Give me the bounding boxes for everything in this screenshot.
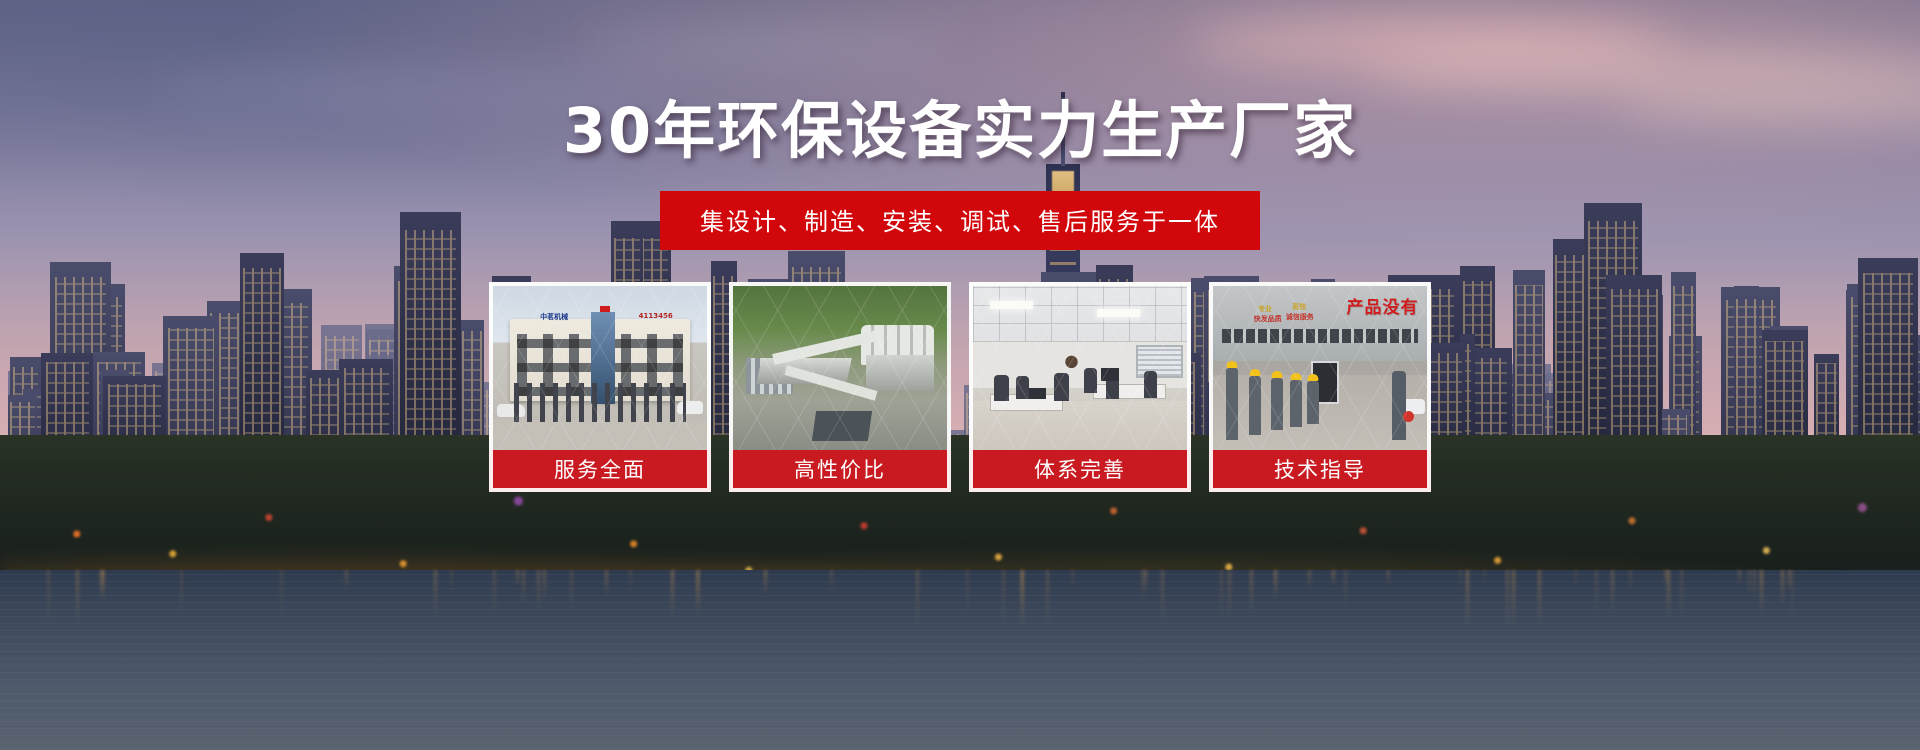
card-photo-industrial-plant xyxy=(729,282,951,450)
feature-card-label: 高性价比 xyxy=(729,450,951,492)
card-photo-office-interior xyxy=(969,282,1191,450)
feature-card[interactable]: 体系完善 xyxy=(969,282,1191,492)
watermark-overlay xyxy=(973,286,1187,450)
page-title: 30年环保设备实力生产厂家 xyxy=(0,100,1920,162)
feature-card-label: 体系完善 xyxy=(969,450,1191,492)
watermark-overlay xyxy=(493,286,707,450)
watermark-overlay xyxy=(733,286,947,450)
feature-card[interactable]: 中茗机械 4113456 服务全面 xyxy=(489,282,711,492)
card-photo-company-building: 中茗机械 4113456 xyxy=(489,282,711,450)
feature-card[interactable]: 产品没有 专业 快发品质 高效 诚信服务 技 xyxy=(1209,282,1431,492)
subtitle-banner: 集设计、制造、安装、调试、售后服务于一体 xyxy=(660,191,1260,250)
feature-card-label: 技术指导 xyxy=(1209,450,1431,492)
watermark-overlay xyxy=(1213,286,1427,450)
card-photo-factory-workers: 产品没有 专业 快发品质 高效 诚信服务 xyxy=(1209,282,1431,450)
feature-card-list: 中茗机械 4113456 服务全面 xyxy=(489,282,1431,492)
hero-banner: 30年环保设备实力生产厂家 集设计、制造、安装、调试、售后服务于一体 中茗机械 … xyxy=(0,0,1920,750)
feature-card[interactable]: 高性价比 xyxy=(729,282,951,492)
banner-content: 30年环保设备实力生产厂家 集设计、制造、安装、调试、售后服务于一体 中茗机械 … xyxy=(0,0,1920,750)
feature-card-label: 服务全面 xyxy=(489,450,711,492)
